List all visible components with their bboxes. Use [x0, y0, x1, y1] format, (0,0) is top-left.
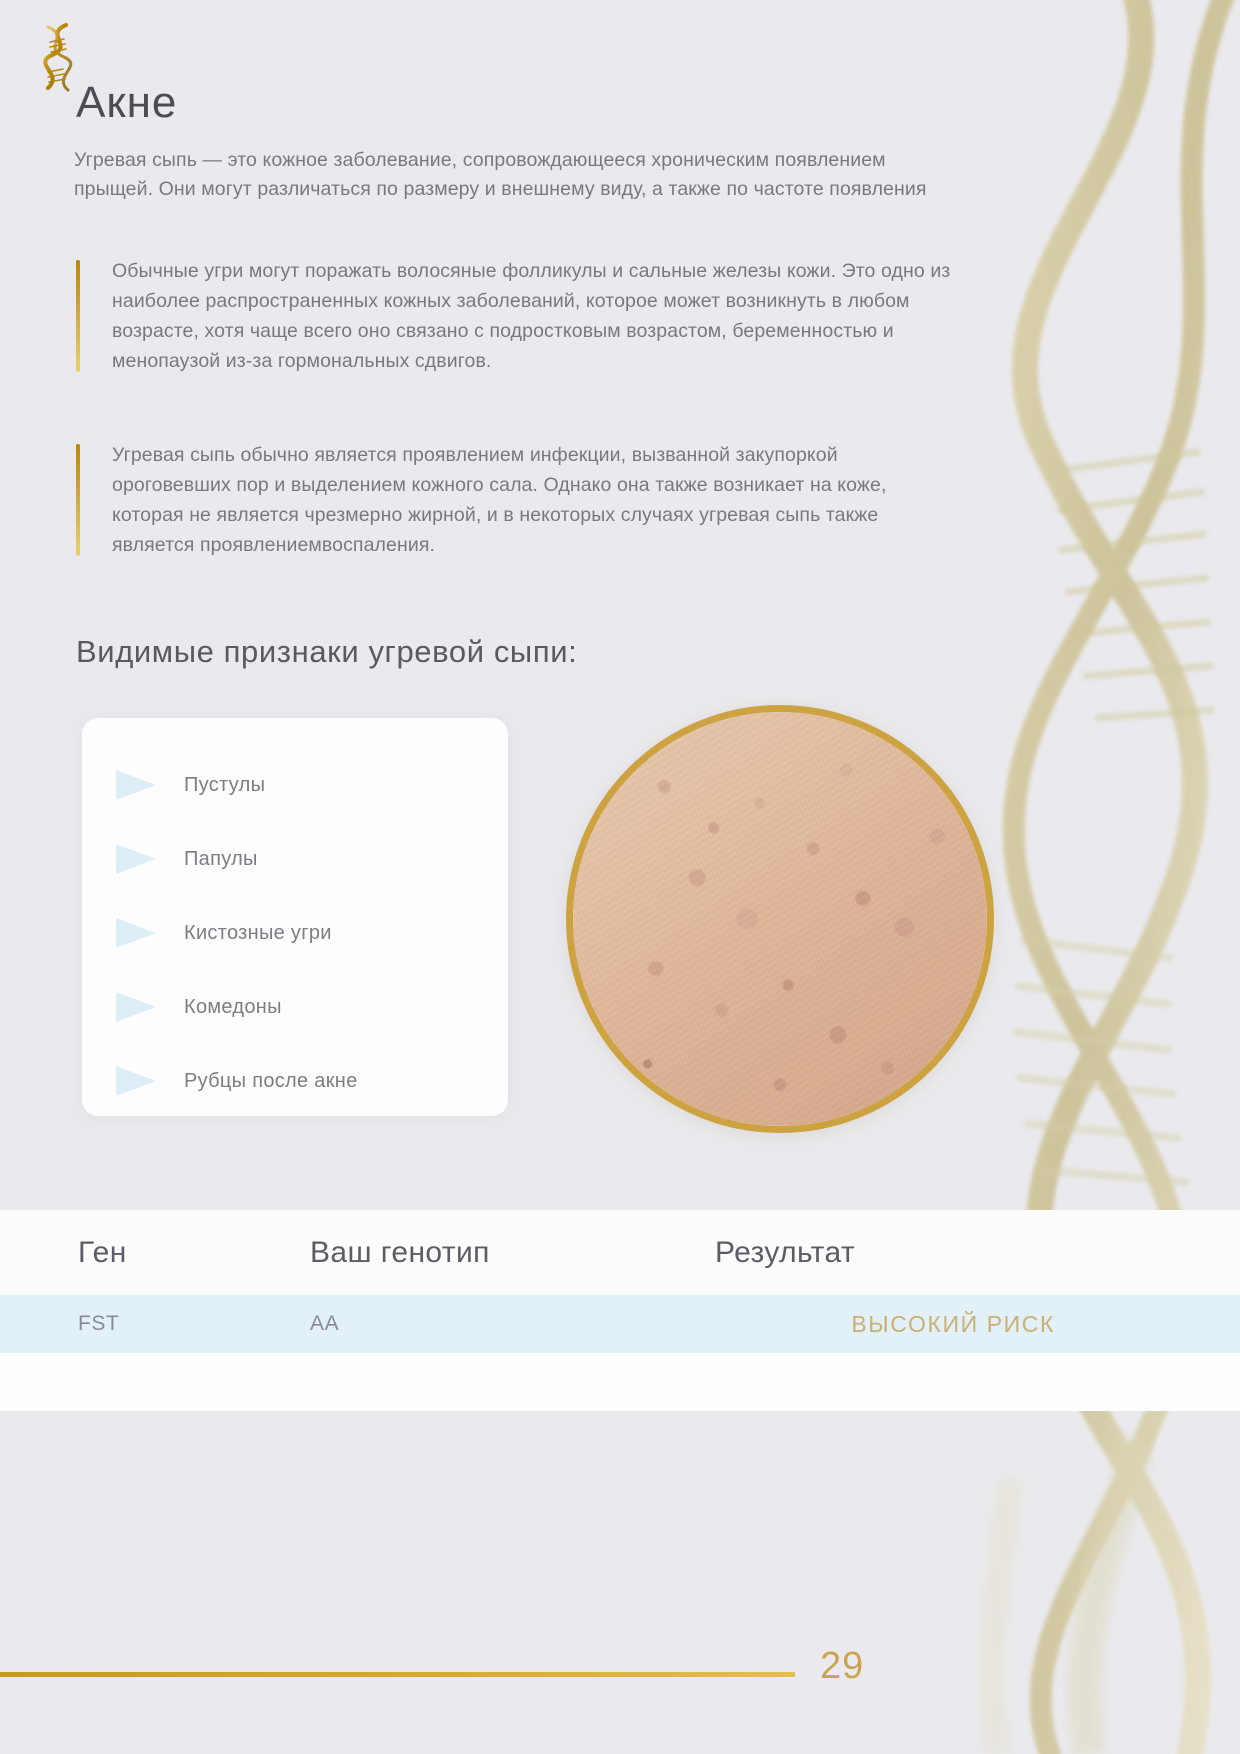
intro-paragraph: Угревая сыпь — это кожное заболевание, с… [74, 146, 954, 204]
triangle-right-icon [114, 990, 158, 1024]
genotype-results-table: Ген Ваш генотип Результат FST AA ВЫСОКИЙ… [0, 1210, 1240, 1455]
cell-gene: FST [0, 1312, 310, 1336]
table-footer-spacer [0, 1353, 1240, 1411]
page-title: Акне [76, 78, 177, 128]
quote-block-1: Обычные угри могут поражать волосяные фо… [76, 256, 956, 376]
column-header-genotype: Ваш генотип [310, 1236, 715, 1270]
list-item-label: Кистозные угри [184, 922, 332, 945]
triangle-right-icon [114, 1064, 158, 1098]
list-item-label: Папулы [184, 848, 258, 871]
footer-divider [0, 1672, 795, 1677]
cell-genotype: AA [310, 1312, 715, 1336]
triangle-right-icon [114, 842, 158, 876]
acne-skin-closeup-photo [566, 705, 994, 1133]
list-item-label: Комедоны [184, 996, 282, 1019]
triangle-right-icon [114, 916, 158, 950]
skin-texture [573, 712, 987, 1126]
table-row: FST AA ВЫСОКИЙ РИСК [0, 1295, 1240, 1353]
cell-result: ВЫСОКИЙ РИСК [715, 1311, 1240, 1338]
column-header-result: Результат [715, 1236, 1240, 1270]
triangle-right-icon [114, 768, 158, 802]
symptom-list-card: Пустулы Папулы Кистозные угри Комедоны Р [82, 718, 508, 1116]
list-item: Пустулы [82, 748, 508, 822]
quote-block-2: Угревая сыпь обычно является проявлением… [76, 440, 956, 560]
column-header-gene: Ген [0, 1236, 310, 1270]
list-item-label: Пустулы [184, 774, 265, 797]
list-item: Рубцы после акне [82, 1044, 508, 1118]
list-item: Комедоны [82, 970, 508, 1044]
report-page: Акне Угревая сыпь — это кожное заболеван… [0, 0, 1240, 1754]
list-item: Папулы [82, 822, 508, 896]
list-item: Кистозные угри [82, 896, 508, 970]
list-item-label: Рубцы после акне [184, 1070, 358, 1093]
page-number: 29 [820, 1645, 864, 1688]
section-heading: Видимые признаки угревой сыпи: [76, 634, 577, 670]
table-header-row: Ген Ваш генотип Результат [0, 1210, 1240, 1295]
